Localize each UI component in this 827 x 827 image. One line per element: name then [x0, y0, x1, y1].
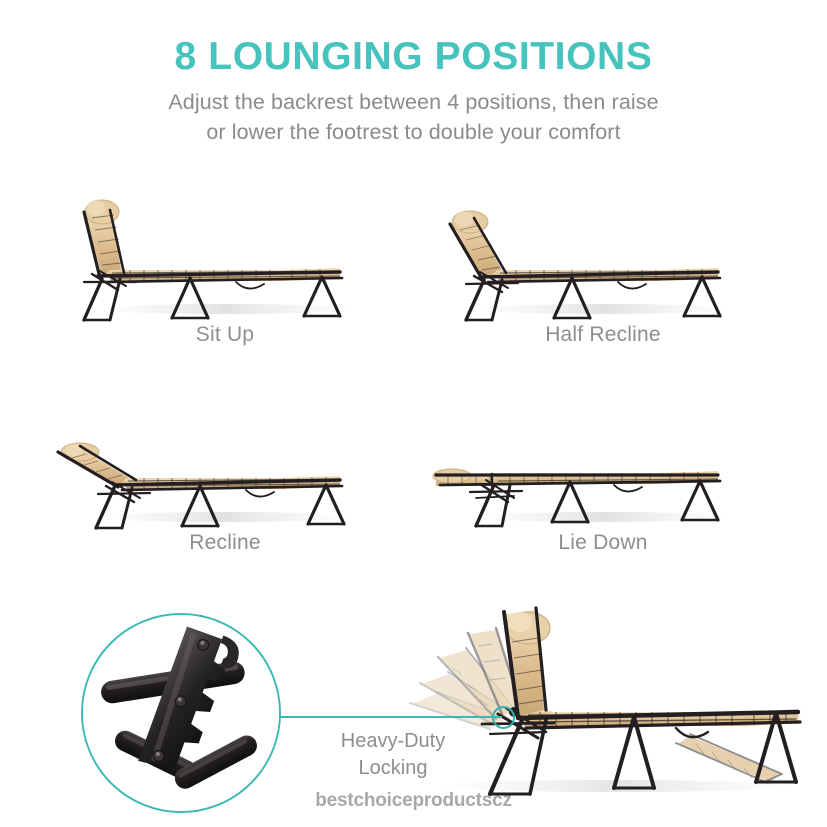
position-card-lie-down: Lie Down [418, 386, 788, 581]
position-label: Recline [40, 531, 410, 555]
positions-grid: Sit Up [0, 178, 827, 578]
feature-label-line-2: Locking [288, 755, 498, 782]
locking-mechanism-detail-circle [81, 613, 281, 813]
position-card-half-recline: Half Recline [418, 178, 788, 373]
feature-label-line-1: Heavy-Duty [341, 730, 445, 752]
page-title: 8 LOUNGING POSITIONS [0, 36, 827, 79]
feature-label: Heavy-Duty Locking [288, 728, 498, 782]
chair-illustration-sit-up [40, 178, 410, 326]
position-label: Half Recline [418, 323, 788, 347]
chair-illustration-half-recline [418, 178, 788, 326]
position-label: Sit Up [40, 323, 410, 347]
chair-illustration-recline [40, 386, 410, 534]
subtitle-line-2: or lower the footrest to double your com… [0, 118, 827, 148]
brand-watermark: bestchoiceproductscz [0, 790, 827, 812]
position-card-recline: Recline [40, 386, 410, 581]
subtitle-line-1: Adjust the backrest between 4 positions,… [168, 90, 658, 114]
page-subtitle: Adjust the backrest between 4 positions,… [0, 88, 827, 147]
position-card-sit-up: Sit Up [40, 178, 410, 373]
infographic-page: 8 LOUNGING POSITIONS Adjust the backrest… [0, 0, 827, 827]
chair-illustration-lie-down [418, 386, 788, 534]
callout-connector-line [280, 716, 502, 718]
position-label: Lie Down [418, 531, 788, 555]
